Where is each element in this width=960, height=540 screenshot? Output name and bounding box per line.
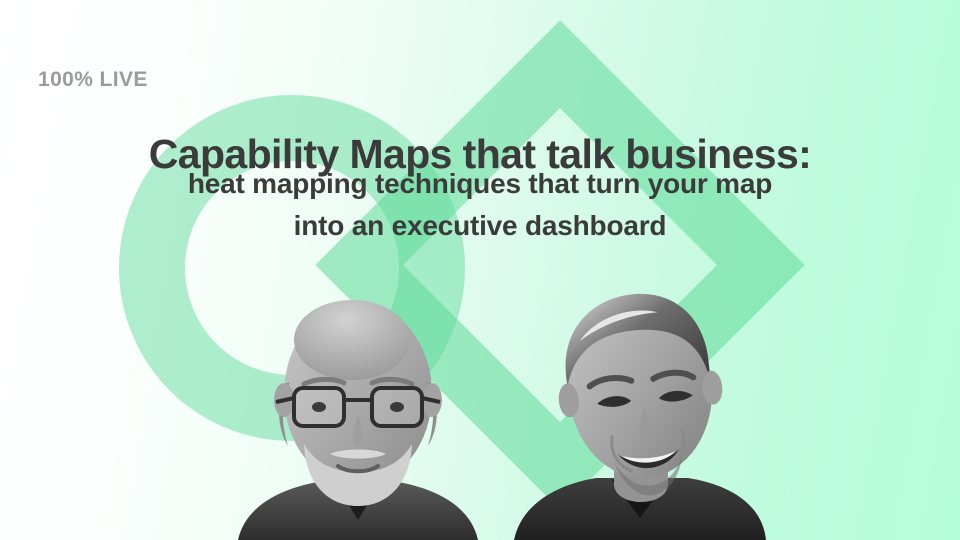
- page-subtitle-line-1: heat mapping techniques that turn your m…: [0, 163, 960, 205]
- live-badge: 100% LIVE: [38, 68, 148, 92]
- webinar-title-slide: 100% LIVE Capability Maps that talk busi…: [0, 0, 960, 540]
- page-subtitle-line-2: into an executive dashboard: [0, 205, 960, 247]
- page-subtitle: heat mapping techniques that turn your m…: [0, 163, 960, 247]
